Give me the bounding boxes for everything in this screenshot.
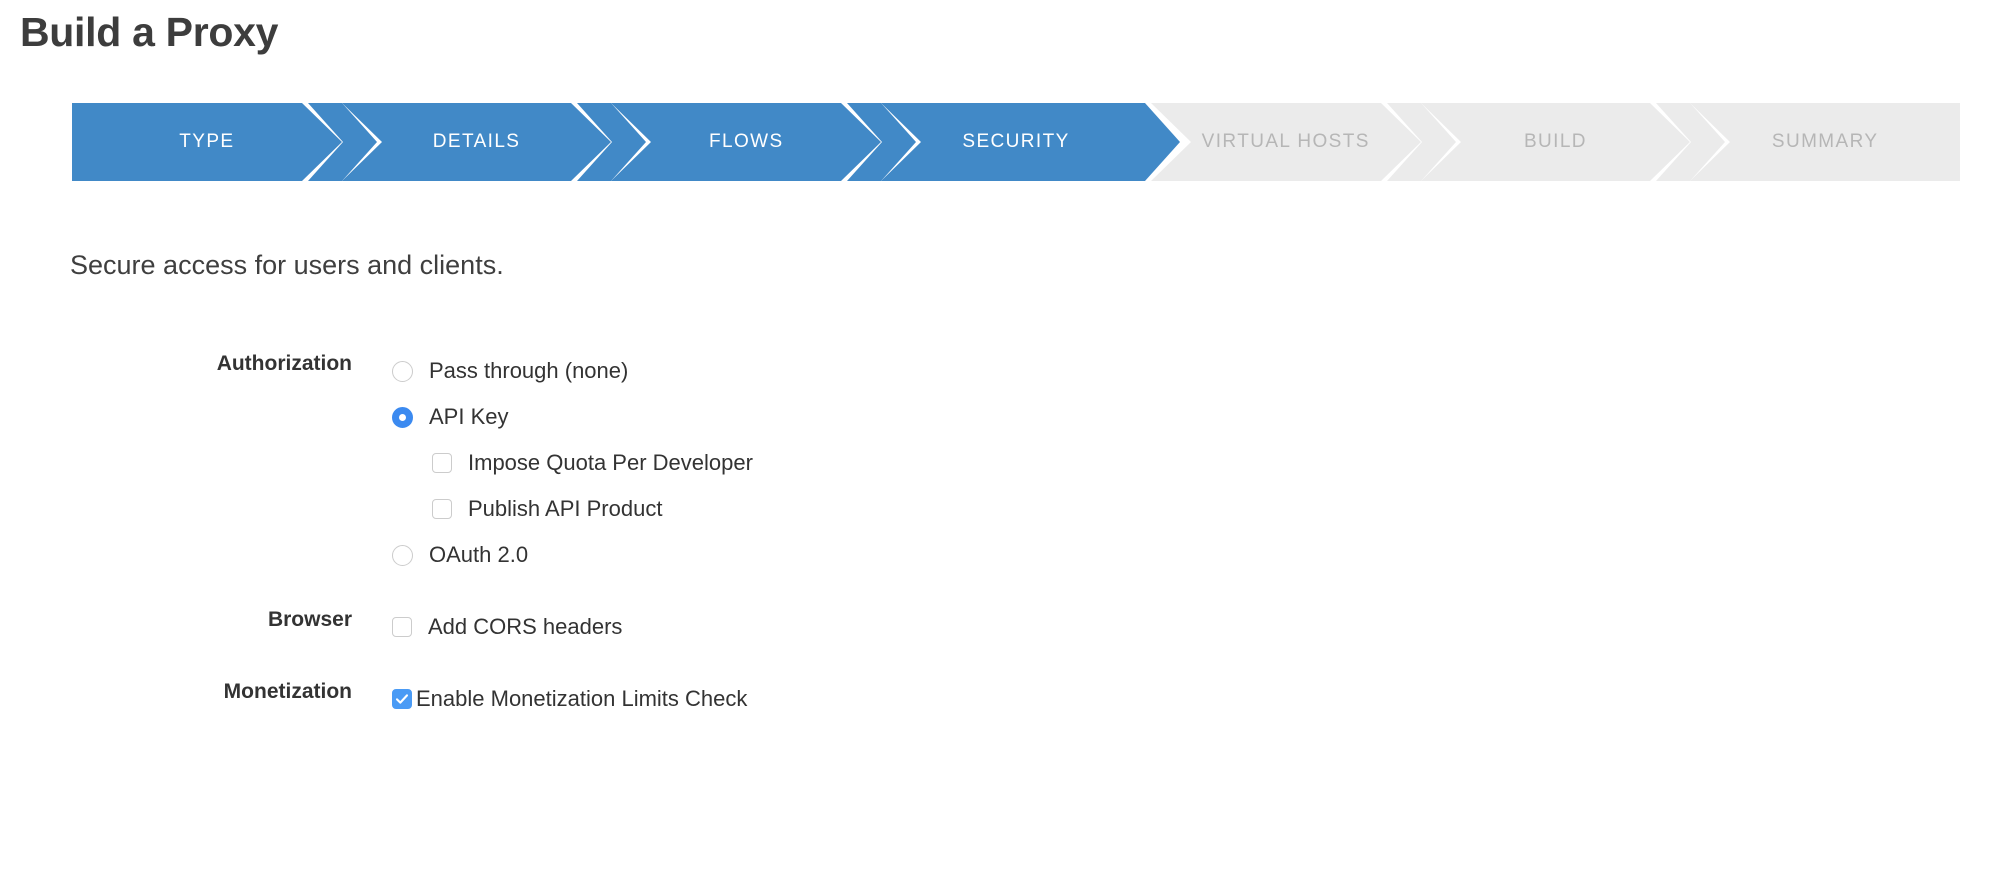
authorization-options: Pass through (none) API Key Impose Quota… — [352, 348, 2016, 578]
page-title: Build a Proxy — [20, 8, 278, 57]
form-row-authorization: Authorization Pass through (none) API Ke… — [0, 348, 2016, 578]
option-enable-monetization-limits-check[interactable]: Enable Monetization Limits Check — [392, 676, 2016, 722]
form-row-monetization: Monetization Enable Monetization Limits … — [0, 676, 2016, 722]
radio-icon[interactable] — [392, 361, 413, 382]
wizard-step-label: TYPE — [179, 131, 234, 153]
checkbox-icon[interactable] — [432, 499, 452, 519]
wizard-step-details[interactable]: DETAILS — [342, 103, 612, 181]
wizard-step-security[interactable]: SECURITY — [881, 103, 1151, 181]
monetization-label: Monetization — [0, 676, 352, 706]
option-oauth-2[interactable]: OAuth 2.0 — [392, 532, 2016, 578]
checkbox-icon[interactable] — [432, 453, 452, 473]
spacer — [0, 650, 2016, 676]
wizard-step-virtual-hosts[interactable]: VIRTUAL HOSTS — [1151, 103, 1421, 181]
form-row-browser: Browser Add CORS headers — [0, 604, 2016, 650]
option-add-cors-headers[interactable]: Add CORS headers — [392, 604, 2016, 650]
radio-icon[interactable] — [392, 545, 413, 566]
radio-icon[interactable] — [392, 407, 413, 428]
option-label: Pass through (none) — [429, 360, 628, 382]
security-form: Authorization Pass through (none) API Ke… — [0, 348, 2016, 722]
option-api-key[interactable]: API Key — [392, 394, 2016, 440]
option-label: Impose Quota Per Developer — [468, 452, 753, 474]
wizard-step-build[interactable]: BUILD — [1421, 103, 1691, 181]
option-label: Publish API Product — [468, 498, 662, 520]
intro-text: Secure access for users and clients. — [70, 250, 504, 281]
browser-options: Add CORS headers — [352, 604, 2016, 650]
wizard-step-label: SECURITY — [962, 131, 1069, 153]
wizard-step-summary[interactable]: SUMMARY — [1690, 103, 1960, 181]
option-label: Enable Monetization Limits Check — [416, 688, 747, 710]
option-impose-quota-per-developer[interactable]: Impose Quota Per Developer — [392, 440, 2016, 486]
spacer — [0, 578, 2016, 604]
wizard-step-label: VIRTUAL HOSTS — [1202, 131, 1370, 153]
option-label: OAuth 2.0 — [429, 544, 528, 566]
option-label: API Key — [429, 406, 508, 428]
wizard-stepper: TYPE DETAILS FLOWS SECURITY VIRTUAL HOST… — [72, 103, 1960, 181]
wizard-step-label: FLOWS — [709, 131, 784, 153]
monetization-options: Enable Monetization Limits Check — [352, 676, 2016, 722]
checkbox-checked-icon[interactable] — [392, 689, 412, 709]
checkbox-icon[interactable] — [392, 617, 412, 637]
browser-label: Browser — [0, 604, 352, 634]
option-pass-through[interactable]: Pass through (none) — [392, 348, 2016, 394]
option-label: Add CORS headers — [428, 616, 622, 638]
wizard-step-label: SUMMARY — [1772, 131, 1879, 153]
wizard-step-label: BUILD — [1524, 131, 1587, 153]
wizard-step-label: DETAILS — [433, 131, 521, 153]
authorization-label: Authorization — [0, 348, 352, 378]
wizard-step-type[interactable]: TYPE — [72, 103, 342, 181]
option-publish-api-product[interactable]: Publish API Product — [392, 486, 2016, 532]
wizard-step-flows[interactable]: FLOWS — [611, 103, 881, 181]
